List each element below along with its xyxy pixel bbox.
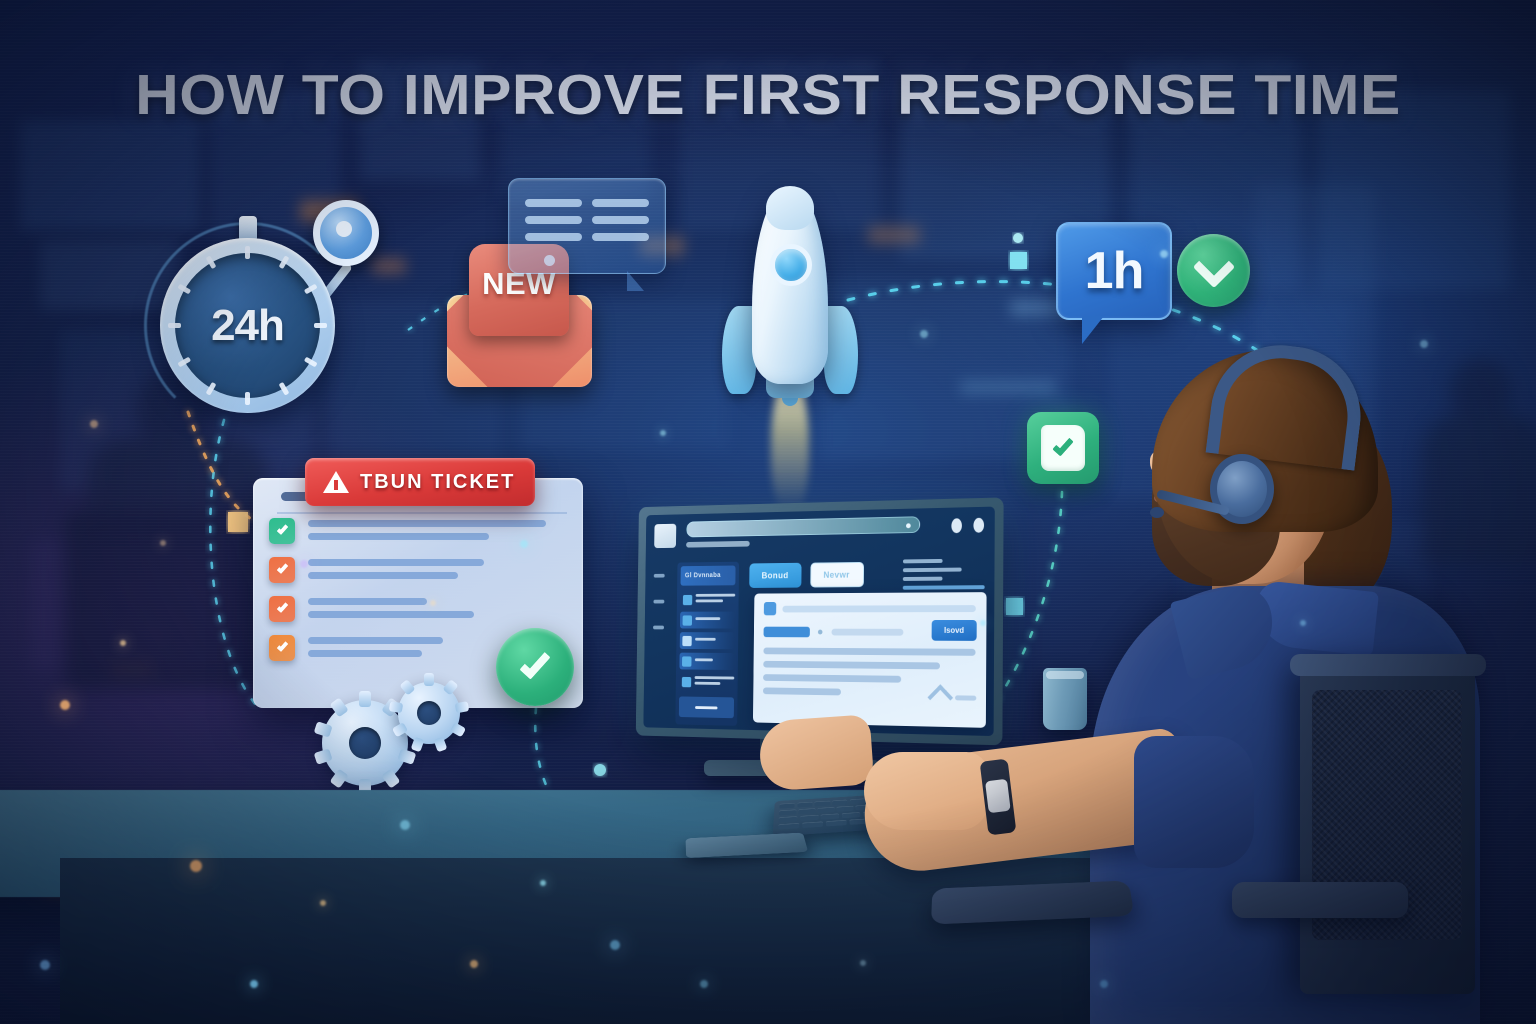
light-particle — [1300, 620, 1306, 626]
check-circle-icon — [496, 628, 574, 706]
chevron-down-circle-icon — [1177, 234, 1250, 307]
text-line — [308, 650, 422, 657]
keyboard-key[interactable] — [798, 808, 815, 814]
urgent-ticket-banner: TBUN TICKET — [305, 458, 535, 506]
meta-line — [903, 559, 943, 563]
checkbox-checked[interactable] — [269, 635, 295, 661]
sidebar-item[interactable] — [680, 591, 735, 608]
chat-lines-column — [592, 199, 649, 253]
sidebar-footer-bar — [695, 706, 717, 709]
check-glyph — [276, 601, 288, 613]
checklist-row[interactable] — [269, 557, 567, 585]
light-particle — [860, 960, 866, 966]
light-particle — [120, 640, 126, 646]
rocket-nose — [766, 186, 814, 230]
separator-dot — [818, 630, 823, 635]
light-particle — [980, 620, 986, 626]
gear-tooth — [359, 691, 371, 707]
ticket-body-line — [763, 661, 940, 670]
envelope-new-icon: NEW — [447, 262, 592, 387]
check-glyph — [276, 562, 288, 574]
gear-hub — [349, 727, 381, 759]
sidebar-footer-button[interactable] — [679, 696, 734, 718]
keyboard-key[interactable] — [837, 806, 854, 812]
sla-bubble-label: 1h — [1085, 241, 1144, 301]
sidebar-item-label — [695, 617, 735, 623]
light-particle — [920, 330, 928, 338]
checklist-row-text — [308, 557, 567, 585]
light-particle — [60, 700, 70, 710]
speech-bubble-icon: 1h — [1056, 222, 1172, 320]
keyboard-key[interactable] — [800, 815, 819, 821]
rocket-window — [770, 244, 812, 286]
sidebar-item-label — [695, 676, 735, 688]
search-input[interactable] — [686, 516, 920, 537]
text-line — [308, 533, 489, 540]
shirt-sleeve — [1134, 736, 1254, 868]
rail-icon[interactable] — [653, 626, 664, 630]
light-particle — [400, 820, 410, 830]
sidebar-item[interactable] — [680, 612, 735, 629]
chat-bubble-tail — [627, 271, 644, 291]
light-particle — [430, 600, 436, 606]
rail-icon[interactable] — [653, 600, 664, 604]
light-particle — [660, 430, 666, 436]
keyboard-key[interactable] — [778, 823, 799, 830]
check-glyph — [276, 523, 288, 535]
meta-line — [903, 568, 962, 573]
ticket-footer-bar — [955, 695, 976, 700]
chat-lines-column — [525, 199, 582, 253]
keyboard-key[interactable] — [821, 813, 840, 819]
sidebar-header-label: Gl Dvnnaba — [685, 572, 721, 579]
tab-secondary[interactable]: Nevwr — [810, 562, 864, 588]
light-particle — [610, 940, 620, 950]
light-particle — [540, 880, 546, 886]
agent-hand-near — [864, 752, 988, 830]
keyboard-key[interactable] — [815, 801, 830, 807]
sidebar-item-icon — [682, 635, 691, 645]
chair-armrest-right — [1232, 882, 1408, 918]
dashboard-tabs: Bonud Nevwr — [749, 562, 863, 588]
stopwatch-label: 24h — [160, 238, 335, 413]
rail-icon[interactable] — [654, 574, 665, 578]
sidebar-item[interactable] — [679, 653, 734, 670]
chair-rim — [1290, 654, 1486, 676]
rocket-fin-left — [722, 306, 756, 394]
text-line — [308, 520, 546, 527]
ticket-detail-header — [764, 601, 976, 615]
agent-hand-far — [758, 714, 875, 792]
keyboard-key[interactable] — [779, 803, 794, 809]
check-glyph — [276, 640, 288, 652]
text-line — [308, 559, 484, 566]
sidebar-item-label — [695, 658, 735, 664]
light-particle — [160, 540, 166, 546]
sidebar-item-icon — [682, 676, 691, 686]
topbar-subtitle — [686, 541, 750, 548]
keyboard-key[interactable] — [850, 799, 865, 805]
keyboard-key[interactable] — [797, 802, 812, 808]
ticket-body-line — [763, 648, 975, 656]
gear-icon — [322, 700, 408, 786]
chat-line — [525, 199, 582, 207]
light-particle — [700, 980, 708, 988]
checklist-row-text — [308, 518, 567, 546]
meta-line — [903, 577, 943, 581]
status-badge — [764, 627, 810, 638]
light-particle — [1160, 250, 1168, 258]
warning-triangle-icon — [323, 471, 349, 493]
chevron-up-icon[interactable] — [927, 684, 953, 711]
sidebar-item-label — [696, 594, 736, 605]
checkbox-checked[interactable] — [269, 518, 295, 544]
light-particle — [90, 420, 98, 428]
dashboard-screen[interactable]: Gl Dvnnaba — [643, 507, 994, 736]
dashboard-meta — [903, 558, 985, 594]
keyboard-key[interactable] — [802, 821, 823, 828]
chat-bubble-icon — [508, 178, 666, 274]
keyboard-key[interactable] — [842, 812, 861, 818]
app-logo — [654, 524, 676, 548]
keyboard-key[interactable] — [818, 807, 835, 813]
rocket-icon — [738, 188, 842, 448]
chat-line — [592, 199, 649, 207]
sidebar-item[interactable] — [679, 673, 734, 691]
chevron-down-glyph — [1192, 245, 1234, 287]
dashboard-sidebar: Gl Dvnnaba — [675, 562, 739, 726]
urgent-banner-label: TBUN TICKET — [360, 471, 515, 494]
desk-front-panel — [60, 858, 1100, 1024]
keyboard-key[interactable] — [832, 800, 847, 806]
light-particle — [520, 540, 528, 548]
keyboard-key[interactable] — [779, 809, 796, 815]
ticket-body-line — [763, 687, 841, 695]
light-particle — [250, 980, 258, 988]
sidebar-item-icon — [683, 615, 692, 625]
chat-line — [525, 233, 582, 241]
checkbox-checked[interactable] — [269, 596, 295, 622]
tab-primary[interactable]: Bonud — [749, 563, 801, 588]
sidebar-item-label — [695, 638, 735, 644]
chat-line — [592, 216, 649, 224]
light-particle — [1420, 340, 1428, 348]
light-particle — [300, 560, 308, 568]
meta-line — [903, 585, 985, 590]
poster-canvas: HOW TO IMPROVE FIRST RESPONSE TIME 24h N… — [0, 0, 1536, 1024]
gear-icon — [398, 682, 460, 744]
ticket-meta-bar — [831, 629, 903, 636]
light-particle — [320, 900, 326, 906]
office-chair — [1290, 650, 1536, 1024]
sidebar-item-icon — [683, 594, 692, 604]
text-line — [308, 611, 474, 618]
light-particle — [190, 860, 202, 872]
rocket-fin-right — [824, 306, 858, 394]
light-particle — [470, 960, 478, 968]
sidebar-item-icon — [682, 656, 691, 666]
checkbox-checked[interactable] — [269, 557, 295, 583]
avatar[interactable] — [951, 518, 962, 533]
avatar[interactable] — [973, 518, 984, 533]
search-icon — [906, 523, 911, 528]
gear-tooth — [389, 701, 404, 713]
check-glyph — [519, 647, 550, 679]
headset-mic-tip — [1150, 507, 1164, 518]
checklist-row-text — [308, 596, 567, 624]
monitor: Gl Dvnnaba — [636, 497, 1004, 745]
resolve-button[interactable]: Isovd — [932, 620, 977, 641]
chat-line — [525, 216, 582, 224]
ticket-title-bar — [782, 605, 975, 612]
icon-rail — [653, 574, 665, 630]
sidebar-header: Gl Dvnnaba — [681, 566, 736, 586]
chat-line — [592, 233, 649, 241]
light-particle — [1100, 980, 1108, 988]
text-line — [308, 598, 427, 605]
keyboard-key[interactable] — [779, 816, 798, 822]
stopwatch-icon: 24h — [160, 238, 335, 413]
ticket-body-line — [763, 674, 901, 683]
text-line — [308, 637, 443, 644]
card-divider — [277, 512, 567, 514]
dashboard-topbar — [646, 507, 995, 558]
light-particle — [40, 960, 50, 970]
checklist-row[interactable] — [269, 596, 567, 624]
gear-tooth — [424, 673, 434, 686]
sidebar-item[interactable] — [680, 632, 735, 649]
gear-hub — [417, 701, 441, 725]
page-title: HOW TO IMPROVE FIRST RESPONSE TIME — [0, 62, 1536, 128]
ticket-avatar — [764, 602, 776, 615]
keyboard-key[interactable] — [826, 820, 847, 827]
ticket-detail-panel: Isovd — [753, 592, 987, 728]
text-line — [308, 572, 458, 579]
